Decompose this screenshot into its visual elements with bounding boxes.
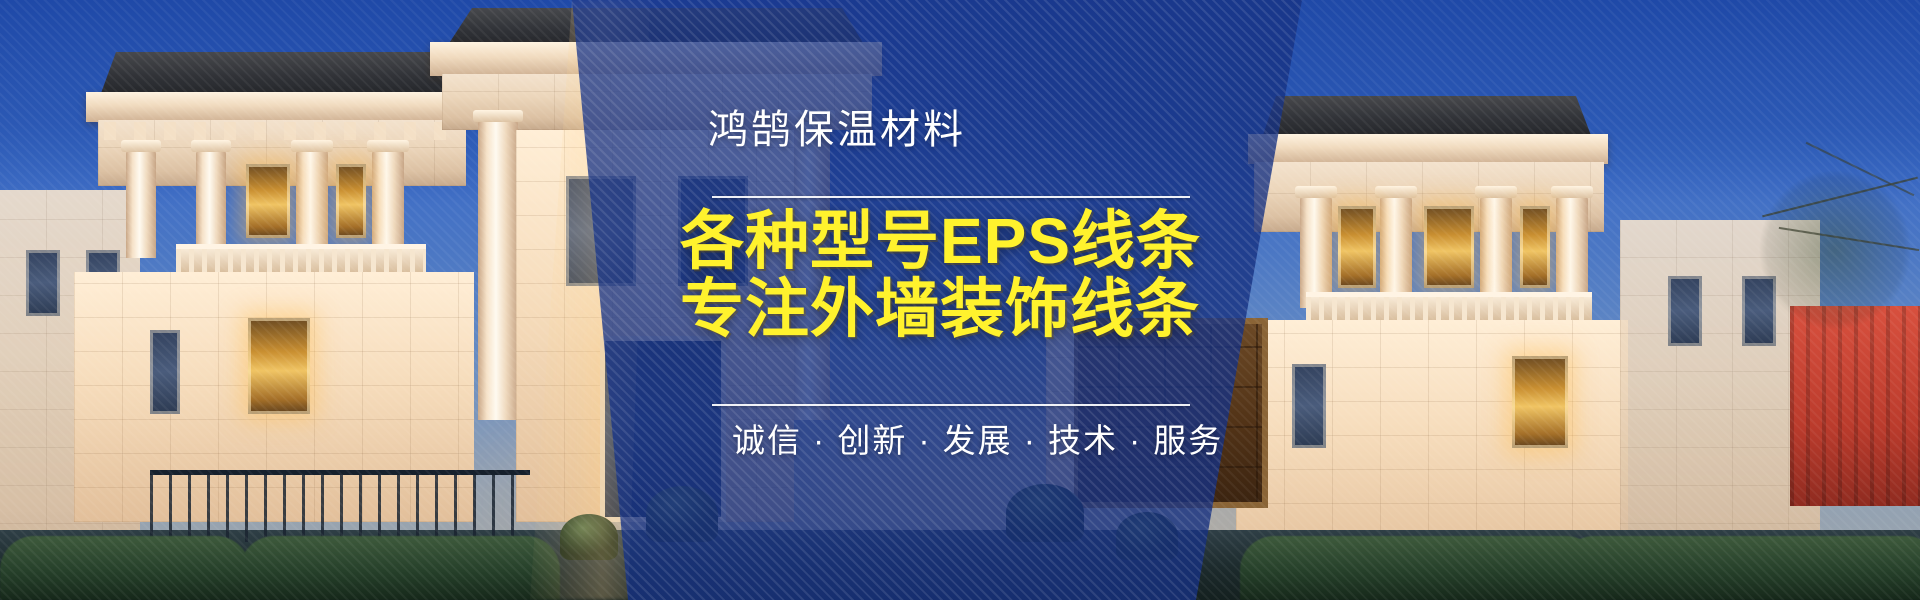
hero-banner: 鸿鹄保温材料 各种型号EPS线条 专注外墙装饰线条 诚信 · 创新 · 发展 ·…	[0, 0, 1920, 600]
divider-top	[712, 196, 1190, 198]
headline-line-2: 专注外墙装饰线条	[680, 276, 1200, 342]
banner-copy: 鸿鹄保温材料 各种型号EPS线条 专注外墙装饰线条 诚信 · 创新 · 发展 ·…	[0, 0, 1920, 600]
tagline: 诚信 · 创新 · 发展 · 技术 · 服务	[732, 418, 1223, 464]
divider-bottom	[712, 404, 1190, 406]
brand-name: 鸿鹄保温材料	[708, 104, 966, 156]
headline-line-1: 各种型号EPS线条	[680, 208, 1201, 274]
